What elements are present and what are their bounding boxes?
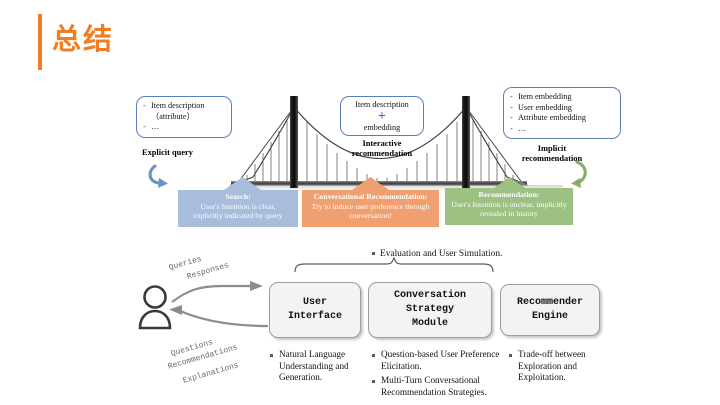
banner-conversational-recommendation: Conversational Recommendation: Try to in… [302,190,439,227]
list-item: Question-based User Preference Elicitati… [372,349,507,372]
list-item: Natural Language Understanding and Gener… [270,349,362,384]
callout-right-line-3: -Attribute embedding [510,113,614,124]
dash-bullet: - [143,101,151,112]
banner-rec-line-1: User's Intention is unclear, implicitly [451,200,566,209]
module-conversation-strategy[interactable]: ConversationStrategyModule [368,282,492,338]
banner-rec-line-2: revealed in history [480,209,538,218]
bullets-recommender-engine: Trade-off between Exploration and Exploi… [509,349,609,387]
dash-bullet: - [143,122,151,133]
callout-embeddings: -Item embedding -User embedding -Attribu… [503,87,621,139]
banner-rec-header: Recommendation: [445,190,573,200]
banner-search-header: Search: [178,192,298,202]
banner-recommendation: Recommendation: User's Intention is uncl… [445,188,573,225]
label-interactive-recommendation: Interactive recommendation [333,139,431,159]
evaluation-note-text: Evaluation and User Simulation. [380,249,502,259]
banner-conv-line-2: conversation! [349,211,391,220]
callout-mid-line-2: embedding [347,123,417,134]
user-avatar-icon [140,287,170,329]
evaluation-note: Evaluation and User Simulation. [372,249,502,259]
list-item: Trade-off between Exploration and Exploi… [509,349,609,384]
label-implicit-line-2: recommendation [522,154,582,163]
bridge-diagram: -Item description （attribute） -… Item de… [125,82,635,234]
label-interactive-line-2: recommendation [352,149,412,158]
bullet-list-engine: Trade-off between Exploration and Exploi… [509,349,609,384]
banner-search-line-1: User's Intention is clear, [200,202,275,211]
bullets-user-interface: Natural Language Understanding and Gener… [270,349,362,387]
plus-icon: + [347,111,417,123]
list-item: Multi-Turn Conversational Recommendation… [372,375,507,398]
dash-bullet: - [510,92,518,103]
callout-right-line-1: -Item embedding [510,92,614,103]
label-interactive-line-1: Interactive [362,139,401,148]
page-title: 总结 [52,18,114,62]
bullet-list-csm: Question-based User Preference Elicitati… [372,349,507,398]
callout-item-description-embedding: Item description + embedding [340,96,424,136]
callout-left-line-2: （attribute） [143,112,225,123]
banner-conv-header: Conversational Recommendation: [302,192,439,202]
label-implicit-line-1: Implicit [538,144,566,153]
module-user-interface-label: UserInterface [288,296,342,324]
label-implicit-recommendation: Implicit recommendation [497,144,607,164]
label-explicit-query: Explicit query [142,148,193,158]
callout-left-line-1: -Item description [143,101,225,112]
callout-item-description: -Item description （attribute） -… [136,96,232,138]
module-recommender-engine-label: RecommenderEngine [517,296,583,324]
dash-bullet: - [510,124,518,135]
banner-search-line-2: explicitly indicated by query [193,211,282,220]
banner-search: Search: User's Intention is clear, expli… [178,190,298,227]
bullets-conversation-strategy: Question-based User Preference Elicitati… [372,349,507,401]
module-user-interface[interactable]: UserInterface [269,282,361,338]
dash-bullet: - [510,103,518,114]
callout-left-line-3: -… [143,122,225,133]
title-accent-bar [38,14,42,70]
dash-bullet: - [510,113,518,124]
square-bullet-icon [372,252,375,255]
callout-right-line-2: -User embedding [510,103,614,114]
module-recommender-engine[interactable]: RecommenderEngine [500,284,600,336]
callout-right-line-4: -… [510,124,614,135]
bullet-list-ui: Natural Language Understanding and Gener… [270,349,362,384]
banner-conv-line-1: Try to induce user preference through [312,202,430,211]
module-conversation-strategy-label: ConversationStrategyModule [394,289,466,331]
